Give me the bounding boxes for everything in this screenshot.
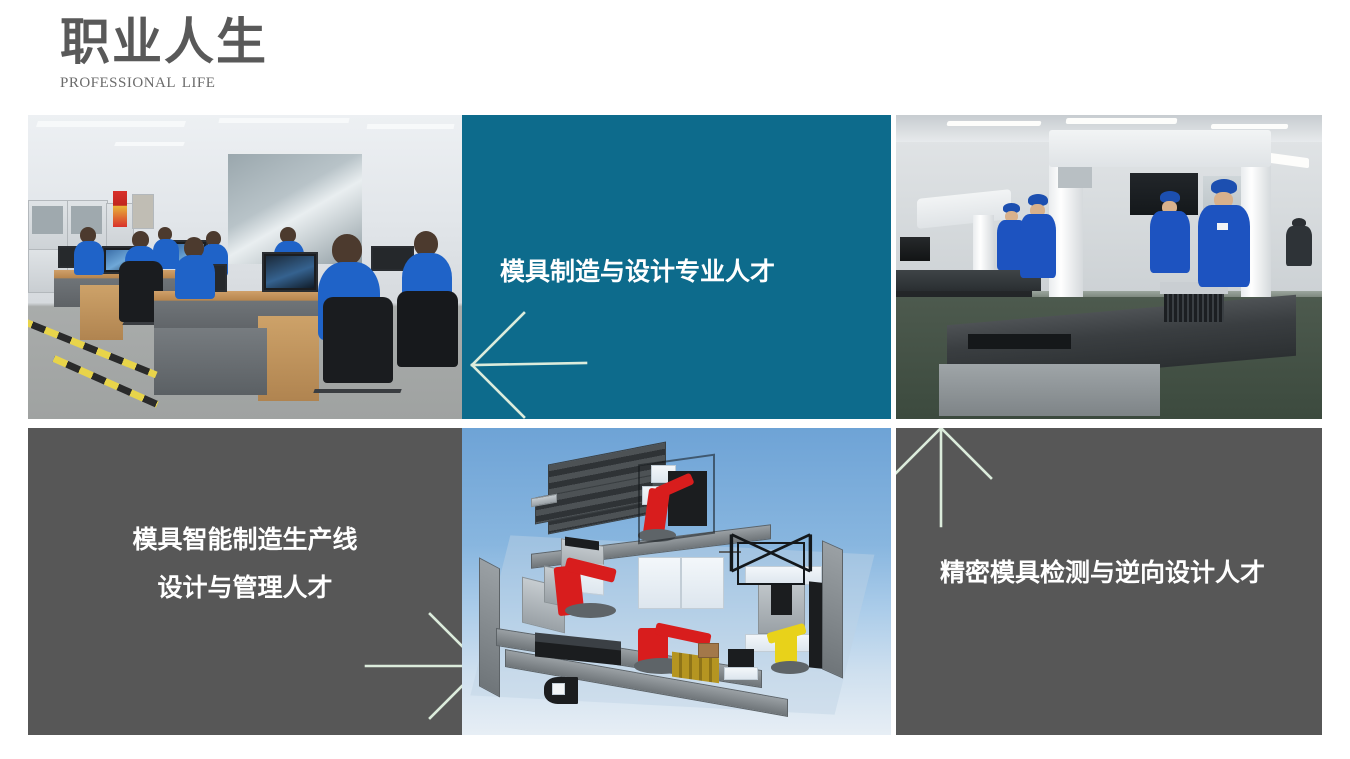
brand-logo-chinese: 职业人生 bbox=[60, 14, 320, 70]
gantry-cross-icon bbox=[728, 532, 814, 575]
brand-logo: 职业人生 Professional Life bbox=[60, 14, 320, 104]
mold-design-classroom-photo bbox=[28, 115, 462, 419]
cmm-metrology-lab-photo bbox=[896, 115, 1322, 419]
precision-inspection-reverse-design-panel[interactable]: 精密模具检测与逆向设计人才 bbox=[896, 428, 1322, 735]
brand-logo-english: Professional Life bbox=[60, 68, 320, 92]
intelligent-production-line-panel[interactable]: 模具智能制造生产线 设计与管理人才 bbox=[28, 428, 462, 735]
cmm-metrology-lab-panel[interactable] bbox=[896, 115, 1322, 419]
robotic-production-line-panel[interactable] bbox=[462, 428, 891, 735]
robotic-production-line-render bbox=[462, 428, 891, 735]
mold-manufacturing-design-caption: 模具制造与设计专业人才 bbox=[500, 251, 775, 293]
precision-inspection-reverse-design-caption: 精密模具检测与逆向设计人才 bbox=[940, 552, 1265, 594]
intelligent-production-line-caption: 模具智能制造生产线 设计与管理人才 bbox=[28, 516, 462, 612]
mold-manufacturing-design-panel[interactable]: 模具制造与设计专业人才 bbox=[462, 115, 891, 419]
mold-design-classroom-panel[interactable] bbox=[28, 115, 462, 419]
